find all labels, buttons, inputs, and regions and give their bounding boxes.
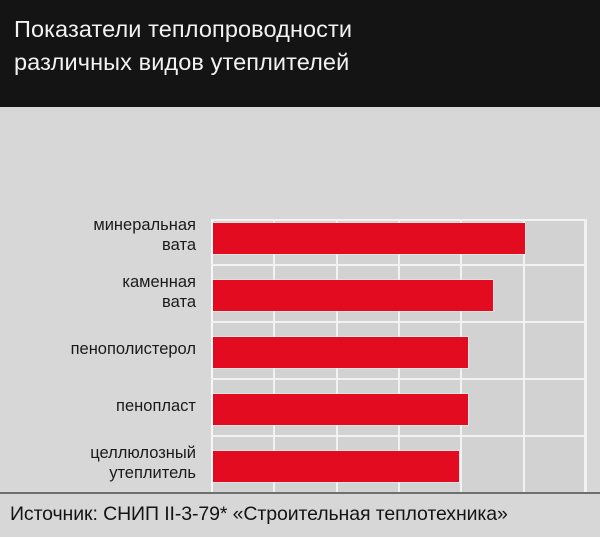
bar bbox=[213, 451, 459, 482]
bar bbox=[213, 280, 493, 311]
row-separator bbox=[211, 378, 586, 380]
category-label: пенополистерол bbox=[0, 339, 196, 359]
bar bbox=[213, 394, 468, 425]
chart-footer: Источник: СНИП II-3-79* «Строительная те… bbox=[0, 492, 600, 537]
row-separator bbox=[211, 435, 586, 437]
row-separator bbox=[211, 264, 586, 266]
page-title: Показатели теплопроводности различных ви… bbox=[14, 13, 574, 79]
category-label: минеральная вата bbox=[0, 215, 196, 255]
source-caption: Источник: СНИП II-3-79* «Строительная те… bbox=[10, 503, 508, 526]
category-label: целлюлозный утеплитель bbox=[0, 443, 196, 483]
category-label: пенопласт bbox=[0, 396, 196, 416]
chart-panel: 0123456минеральная ватакаменная ватапено… bbox=[0, 107, 600, 492]
infographic-chart: Показатели теплопроводности различных ви… bbox=[0, 0, 600, 537]
chart-header: Показатели теплопроводности различных ви… bbox=[0, 0, 600, 107]
bar bbox=[213, 223, 525, 254]
category-label: каменная вата bbox=[0, 272, 196, 312]
bar bbox=[213, 337, 468, 368]
row-separator bbox=[211, 321, 586, 323]
